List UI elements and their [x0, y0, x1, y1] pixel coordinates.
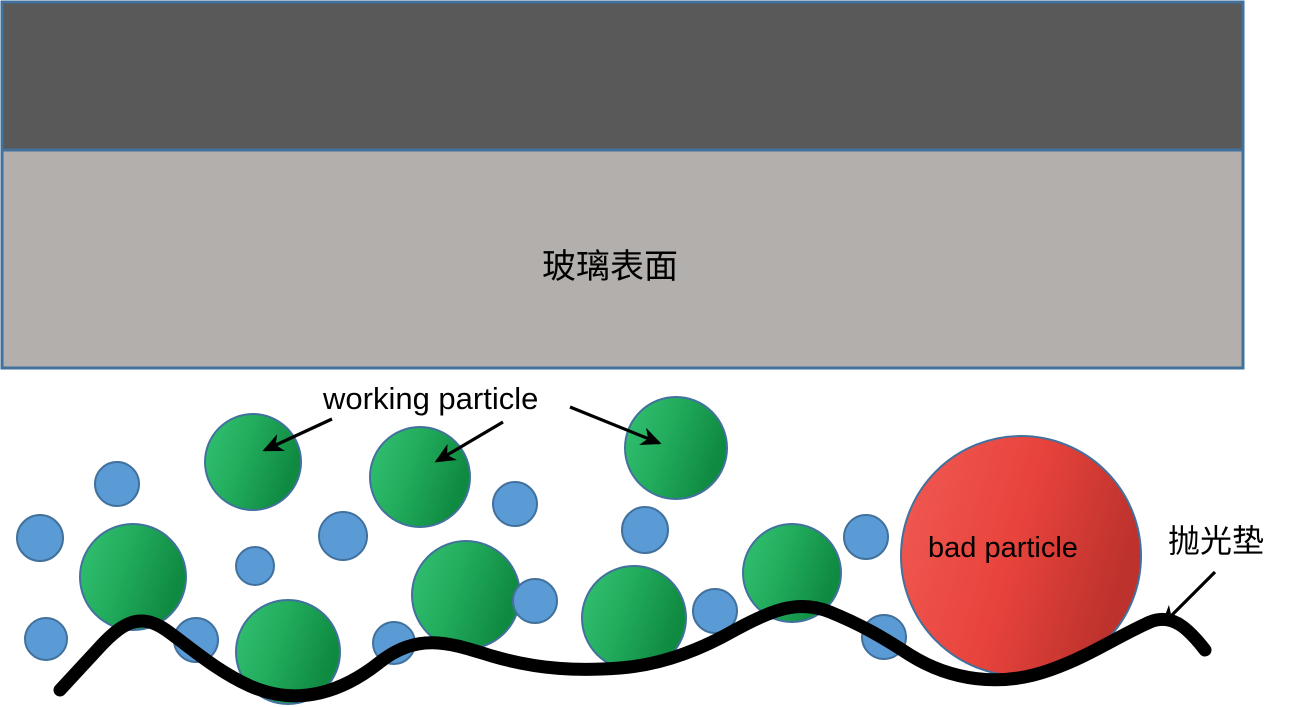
slurry-particle	[493, 482, 537, 526]
dark-block	[2, 2, 1243, 150]
glass-surface-label: 玻璃表面	[542, 248, 678, 286]
working-particle	[370, 427, 470, 527]
slurry-particle	[25, 618, 67, 660]
cmp-schematic-svg: 玻璃表面 working particle bad particle 抛光垫	[0, 0, 1299, 707]
polishing-pad-label: 抛光垫	[1168, 523, 1264, 559]
working-particle	[625, 397, 727, 499]
slurry-particle	[319, 512, 367, 560]
slurry-particle	[622, 507, 668, 553]
working-particle	[205, 414, 301, 510]
working-particle	[412, 541, 520, 649]
working-particle-label: working particle	[322, 381, 538, 416]
slurry-particle	[17, 515, 63, 561]
working-particle	[80, 524, 186, 630]
slurry-particle	[95, 462, 139, 506]
slurry-particle	[844, 515, 888, 559]
bad-particle-label: bad particle	[928, 532, 1078, 564]
arrow-polishing-pad	[1163, 572, 1215, 624]
slurry-particle	[513, 579, 557, 623]
diagram-canvas: 玻璃表面 working particle bad particle 抛光垫	[0, 0, 1299, 707]
slurry-particle	[236, 547, 274, 585]
